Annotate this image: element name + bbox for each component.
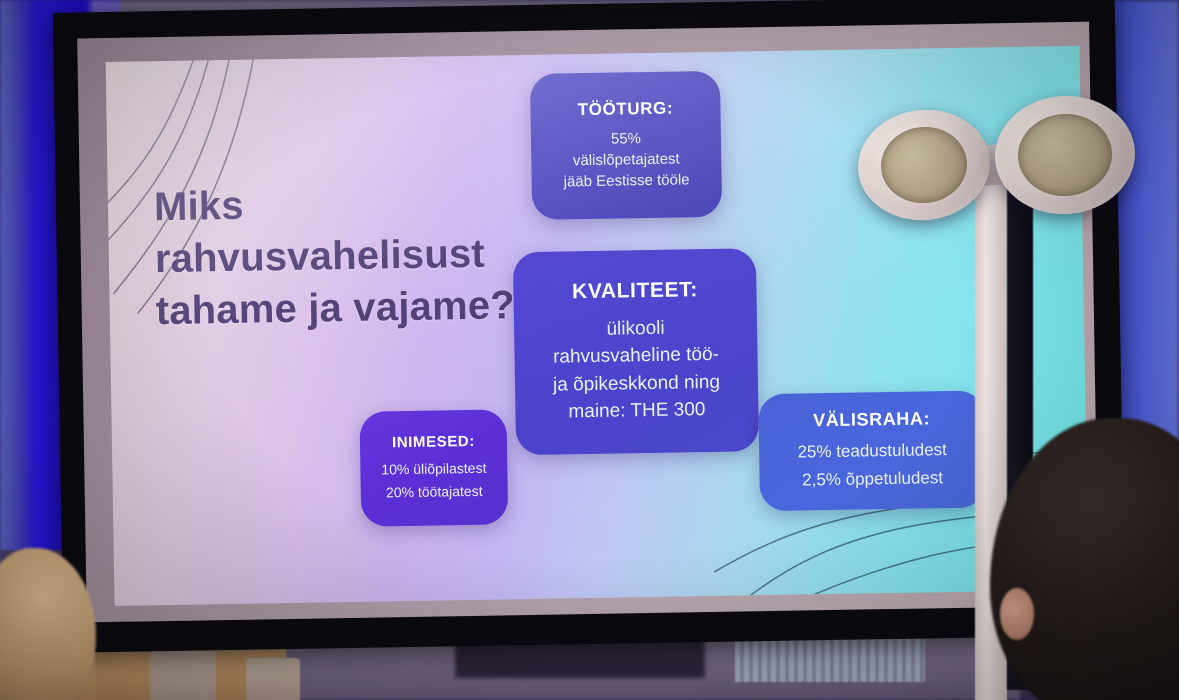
- card-tooturg: TÖÖTURG: 55% välislõpetajatest jääb Eest…: [530, 71, 722, 220]
- card-valisraha: VÄLISRAHA: 25% teadustuludest 2,5% õppet…: [758, 390, 986, 511]
- card-inimesed-body: 10% üliõpilastest 20% töötajatest: [381, 457, 487, 504]
- photo-scene: Miks rahvusvahelisust tahame ja vajame? …: [0, 0, 1179, 700]
- speaker-right-grille: [1015, 111, 1114, 199]
- card-valisraha-body: 25% teadustuludest 2,5% õppetuludest: [797, 436, 947, 494]
- card-valisraha-heading: VÄLISRAHA:: [813, 408, 930, 431]
- speaker-left-grille: [877, 123, 970, 208]
- card-kvaliteet: KVALITEET: ülikooli rahvusvaheline töö- …: [513, 248, 759, 455]
- card-kvaliteet-heading: KVALITEET:: [572, 278, 698, 304]
- card-tooturg-body: 55% välislõpetajatest jääb Eestisse tööl…: [563, 127, 690, 193]
- card-inimesed: INIMESED: 10% üliõpilastest 20% töötajat…: [359, 409, 508, 526]
- chair-seat-1: [150, 650, 216, 700]
- card-inimesed-heading: INIMESED:: [392, 433, 475, 451]
- audience-ear-right: [1000, 588, 1034, 640]
- card-tooturg-heading: TÖÖTURG:: [578, 98, 674, 120]
- projection-screen: Miks rahvusvahelisust tahame ja vajame? …: [53, 0, 1125, 653]
- slide-title: Miks rahvusvahelisust tahame ja vajame?: [154, 175, 516, 337]
- chair-seat-2: [246, 658, 300, 700]
- card-kvaliteet-body: ülikooli rahvusvaheline töö- ja õpikeskk…: [552, 314, 721, 426]
